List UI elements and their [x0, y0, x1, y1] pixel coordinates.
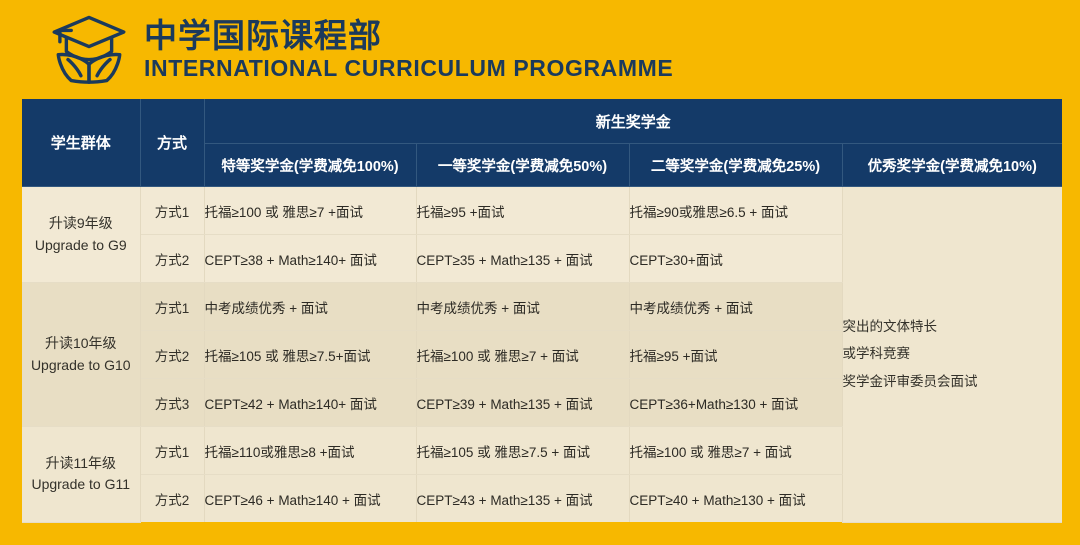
group-label-g10-en: Upgrade to G10: [22, 355, 140, 377]
cell-g10-m3-special: CEPT≥42 + Math≥140+ 面试: [204, 379, 416, 427]
group-label-g9: 升读9年级 Upgrade to G9: [22, 187, 140, 283]
method-label: 方式2: [140, 475, 204, 523]
cell-g10-m1-special: 中考成绩优秀 + 面试: [204, 283, 416, 331]
title-chinese: 中学国际课程部: [144, 19, 673, 52]
graduation-cap-book-icon: [48, 11, 130, 87]
header-titles: 中学国际课程部 INTERNATIONAL CURRICULUM PROGRAM…: [144, 19, 673, 80]
method-label: 方式1: [140, 427, 204, 475]
method-label: 方式1: [140, 283, 204, 331]
cell-g10-m1-second: 中考成绩优秀 + 面试: [629, 283, 842, 331]
cell-g10-m1-first: 中考成绩优秀 + 面试: [416, 283, 629, 331]
cell-g9-m1-first: 托福≥95 +面试: [416, 187, 629, 235]
th-student-group: 学生群体: [22, 99, 140, 187]
method-label: 方式3: [140, 379, 204, 427]
poster-root: 中学国际课程部 INTERNATIONAL CURRICULUM PROGRAM…: [0, 0, 1080, 545]
cell-g9-m2-first: CEPT≥35 + Math≥135 + 面试: [416, 235, 629, 283]
cell-g10-m3-first: CEPT≥39 + Math≥135 + 面试: [416, 379, 629, 427]
cell-g9-m2-special: CEPT≥38 + Math≥140+ 面试: [204, 235, 416, 283]
group-label-g11-en: Upgrade to G11: [22, 474, 140, 496]
merit-line-3: 奖学金评审委员会面试: [843, 368, 1063, 396]
cell-g10-m2-special: 托福≥105 或 雅思≥7.5+面试: [204, 331, 416, 379]
cell-merit-scholarship-merged: 突出的文体特长 或学科竞赛 奖学金评审委员会面试: [842, 187, 1062, 523]
table-row: 升读9年级 Upgrade to G9 方式1 托福≥100 或 雅思≥7 +面…: [22, 187, 1062, 235]
group-label-g10-cn: 升读10年级: [22, 333, 140, 355]
cell-g10-m3-second: CEPT≥36+Math≥130 + 面试: [629, 379, 842, 427]
group-label-g11-cn: 升读11年级: [22, 453, 140, 475]
method-label: 方式2: [140, 331, 204, 379]
merit-line-1: 突出的文体特长: [843, 313, 1063, 341]
cell-g11-m1-special: 托福≥110或雅思≥8 +面试: [204, 427, 416, 475]
method-label: 方式1: [140, 187, 204, 235]
th-scholarship-second: 二等奖学金(学费减免25%): [629, 144, 842, 187]
page-header: 中学国际课程部 INTERNATIONAL CURRICULUM PROGRAM…: [0, 0, 1080, 98]
th-group-new-student-scholarship: 新生奖学金: [204, 99, 1062, 144]
method-label: 方式2: [140, 235, 204, 283]
cell-g11-m2-special: CEPT≥46 + Math≥140 + 面试: [204, 475, 416, 523]
cell-g11-m1-first: 托福≥105 或 雅思≥7.5 + 面试: [416, 427, 629, 475]
th-scholarship-special: 特等奖学金(学费减免100%): [204, 144, 416, 187]
cell-g9-m1-special: 托福≥100 或 雅思≥7 +面试: [204, 187, 416, 235]
group-label-g9-en: Upgrade to G9: [22, 235, 140, 257]
scholarship-table-container: 学生群体 方式 新生奖学金 特等奖学金(学费减免100%) 一等奖学金(学费减免…: [22, 99, 1062, 522]
group-label-g11: 升读11年级 Upgrade to G11: [22, 427, 140, 523]
th-scholarship-merit: 优秀奖学金(学费减免10%): [842, 144, 1062, 187]
cell-g9-m1-second: 托福≥90或雅思≥6.5 + 面试: [629, 187, 842, 235]
scholarship-table: 学生群体 方式 新生奖学金 特等奖学金(学费减免100%) 一等奖学金(学费减免…: [22, 99, 1062, 523]
title-english: INTERNATIONAL CURRICULUM PROGRAMME: [144, 57, 673, 80]
cell-g9-m2-second: CEPT≥30+面试: [629, 235, 842, 283]
th-method: 方式: [140, 99, 204, 187]
cell-g10-m2-first: 托福≥100 或 雅思≥7 + 面试: [416, 331, 629, 379]
cell-g10-m2-second: 托福≥95 +面试: [629, 331, 842, 379]
cell-g11-m1-second: 托福≥100 或 雅思≥7 + 面试: [629, 427, 842, 475]
group-label-g10: 升读10年级 Upgrade to G10: [22, 283, 140, 427]
group-label-g9-cn: 升读9年级: [22, 213, 140, 235]
cell-g11-m2-first: CEPT≥43 + Math≥135 + 面试: [416, 475, 629, 523]
cell-g11-m2-second: CEPT≥40 + Math≥130 + 面试: [629, 475, 842, 523]
merit-line-2: 或学科竞赛: [843, 340, 1063, 368]
th-scholarship-first: 一等奖学金(学费减免50%): [416, 144, 629, 187]
table-header-row-top: 学生群体 方式 新生奖学金: [22, 99, 1062, 144]
